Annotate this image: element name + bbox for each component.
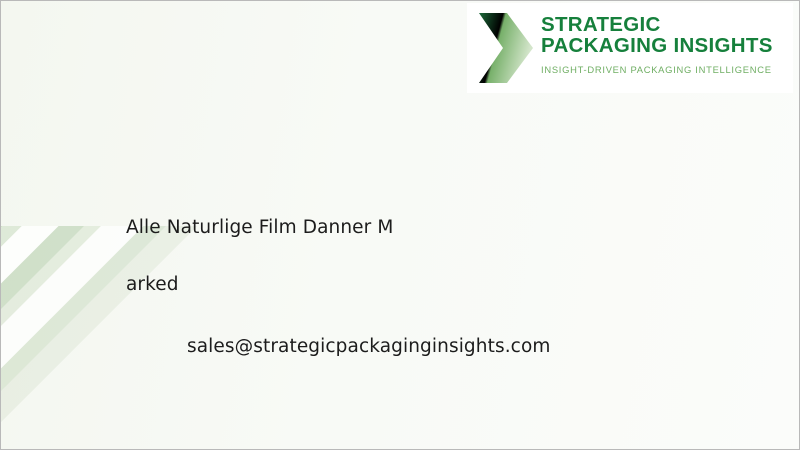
- logo-wordmark: STRATEGIC PACKAGING INSIGHTS INSIGHT-DRI…: [541, 15, 787, 75]
- company-logo: STRATEGIC PACKAGING INSIGHTS INSIGHT-DRI…: [467, 3, 793, 93]
- slide-canvas: STRATEGIC PACKAGING INSIGHTS INSIGHT-DRI…: [0, 0, 800, 450]
- page-title-line-2: arked: [126, 274, 179, 295]
- stripe-band: [1, 67, 271, 226]
- stripe-band: [1, 99, 271, 226]
- stripe-band: [1, 151, 231, 226]
- stripe-band: [1, 36, 271, 226]
- stripe-band: [1, 27, 271, 226]
- stripe-band: [1, 77, 271, 226]
- stripe-band: [1, 143, 239, 226]
- logo-tagline: INSIGHT-DRIVEN PACKAGING INTELLIGENCE: [541, 64, 787, 75]
- stripe-band: [1, 1, 271, 226]
- logo-name-line-1: STRATEGIC: [541, 15, 787, 36]
- page-title-line-1: Alle Naturlige Film Danner M: [126, 217, 393, 238]
- stripe-band: [1, 127, 255, 226]
- logo-name-line-2: PACKAGING INSIGHTS: [541, 36, 787, 57]
- stripe-group-upper: [1, 1, 271, 226]
- contact-email: sales@strategicpackaginginsights.com: [187, 336, 550, 357]
- stripe-band: [1, 6, 271, 226]
- chevron-stripes-upper: [1, 1, 271, 226]
- chevron-right-icon: [477, 11, 535, 85]
- stripe-band: [1, 116, 266, 226]
- stripe-band: [1, 1, 271, 226]
- stripe-band: [1, 91, 271, 226]
- stripe-band: [1, 49, 271, 226]
